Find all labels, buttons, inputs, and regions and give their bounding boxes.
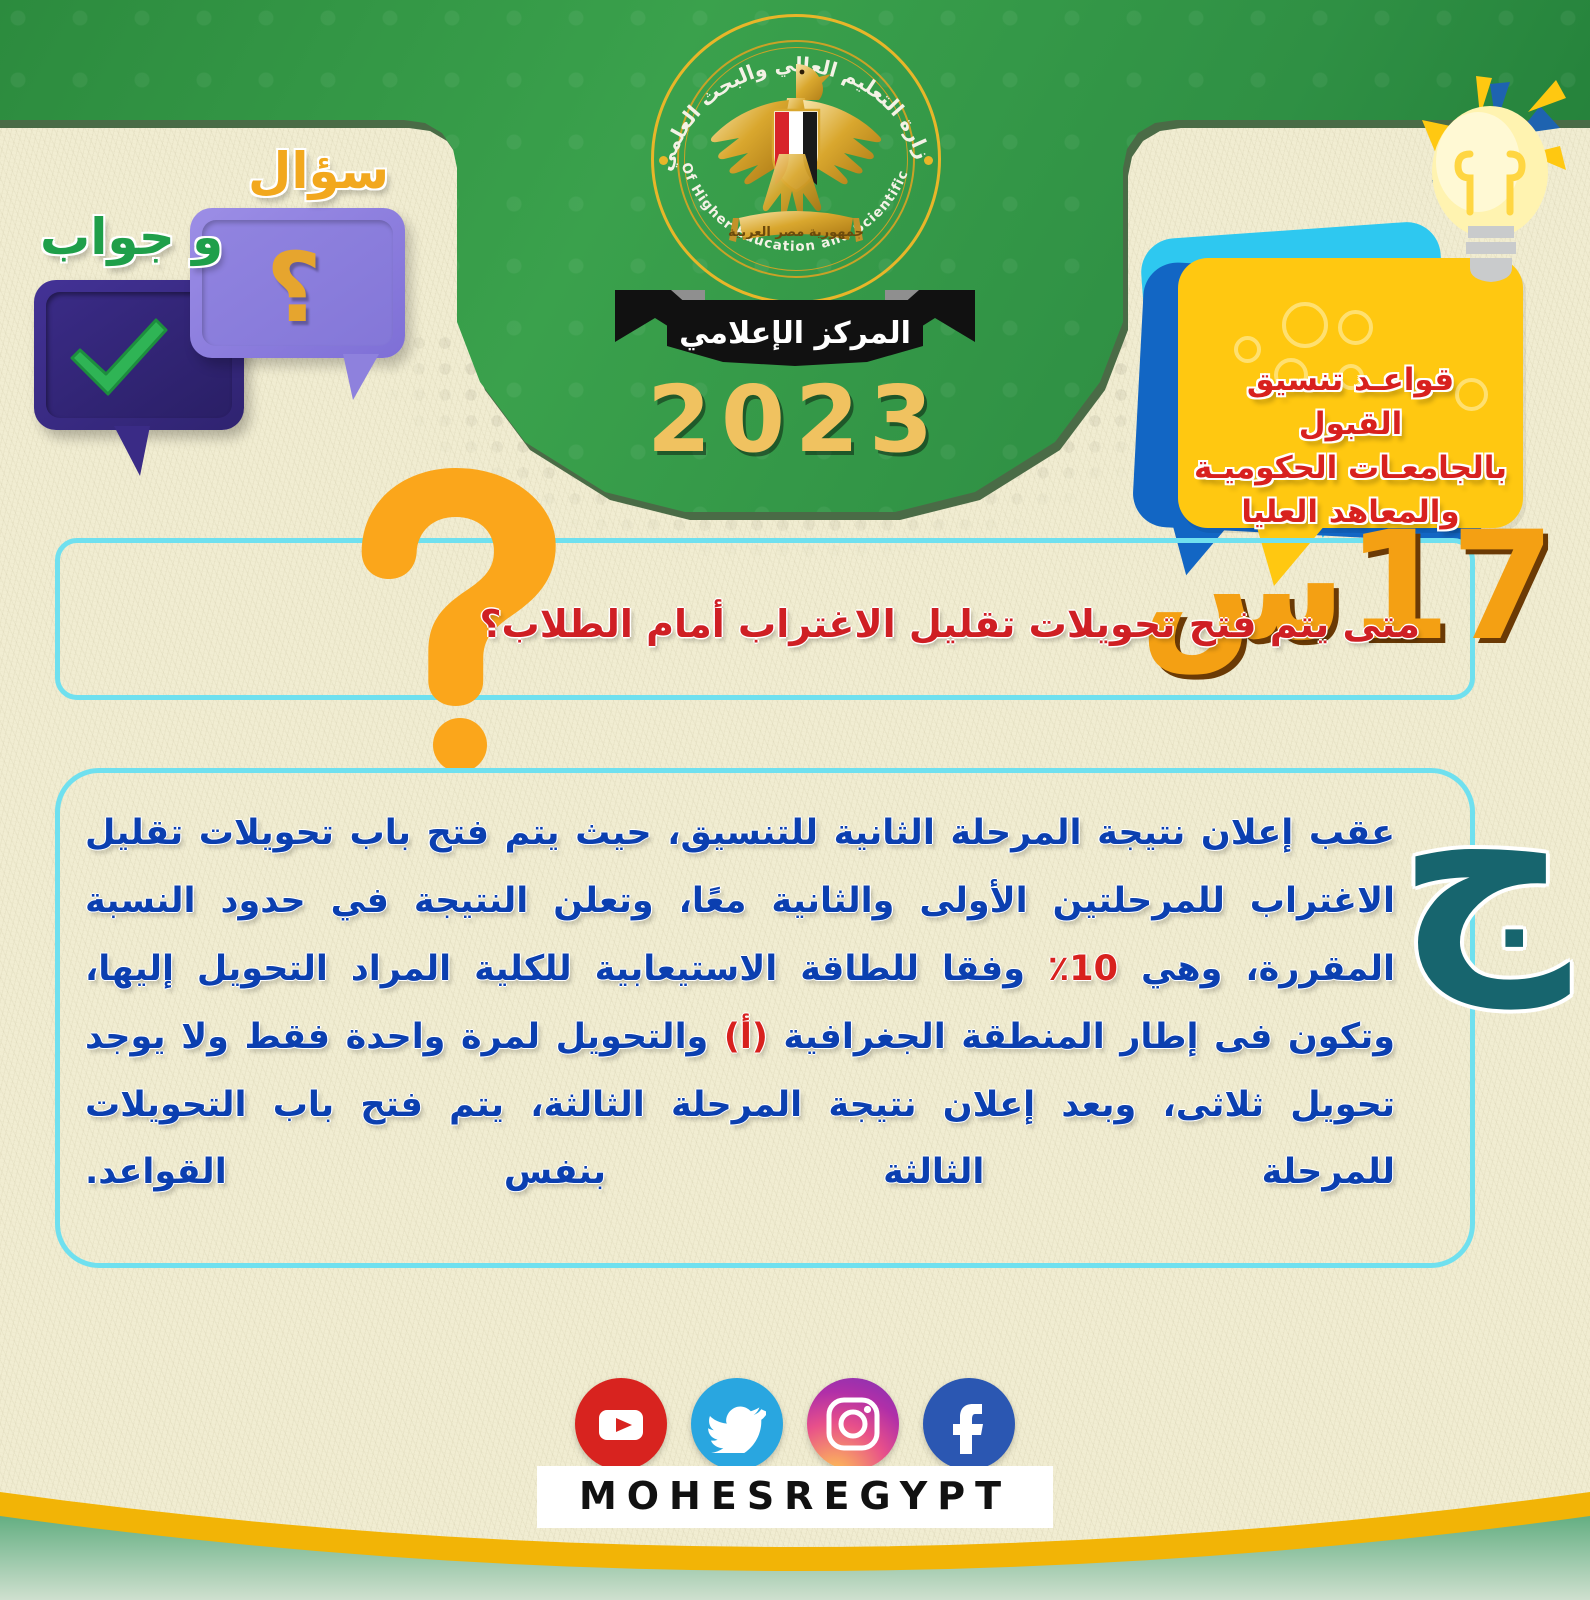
bubble-dot-2 xyxy=(1338,310,1373,345)
bubble-dot-1 xyxy=(1282,302,1328,348)
bottom-curve-decoration xyxy=(0,1490,1590,1600)
answer-segment-3: (أ) xyxy=(724,1017,768,1057)
media-center-ribbon: المركز الإعلامي xyxy=(615,284,975,368)
label-jawab: و جواب xyxy=(40,208,223,266)
twitter-link[interactable] xyxy=(691,1378,783,1470)
ribbon-label: المركز الإعلامي xyxy=(679,316,911,351)
topic-card: قواعـد تنسيق القبول بالجامعـات الحكوميـة… xyxy=(1130,80,1580,550)
facebook-link[interactable] xyxy=(923,1378,1015,1470)
question-mark-glyph-icon: ؟ xyxy=(266,232,322,344)
label-sual: سؤال xyxy=(248,142,389,200)
ribbon-band: المركز الإعلامي xyxy=(667,300,923,366)
answer-segment-1: 10٪ xyxy=(1048,949,1118,989)
seal-scroll-text: جمهورية مصر العربية xyxy=(728,225,864,240)
answer-bubble-tail xyxy=(114,426,150,476)
instagram-icon xyxy=(824,1395,882,1453)
facebook-icon xyxy=(939,1394,999,1454)
social-links xyxy=(0,1378,1590,1470)
light-bulb-icon xyxy=(1378,76,1568,326)
qa-badge: ؟ سؤال و جواب xyxy=(20,150,390,460)
ministry-seal-logo: وزارة التعليم العالي والبحث العلمي Minis… xyxy=(651,14,941,304)
youtube-link[interactable] xyxy=(575,1378,667,1470)
check-mark-icon xyxy=(64,306,174,406)
answer-text: عقب إعلان نتيجة المرحلة الثانية للتنسيق،… xyxy=(85,800,1395,1207)
question-text: متى يتم فتح تحويلات تقليل الاغتراب أمام … xyxy=(120,600,1420,649)
answer-marker-label: ج xyxy=(1397,748,1570,988)
twitter-bird-icon xyxy=(708,1395,766,1453)
topic-line-1: قواعـد تنسيق القبول xyxy=(1192,358,1509,446)
eagle-of-saladin-icon: جمهورية مصر العربية xyxy=(701,58,891,263)
youtube-icon xyxy=(592,1395,650,1453)
instagram-link[interactable] xyxy=(807,1378,899,1470)
question-bubble-tail xyxy=(343,354,379,400)
topic-line-2: بالجامعـات الحكوميـة xyxy=(1192,446,1509,490)
